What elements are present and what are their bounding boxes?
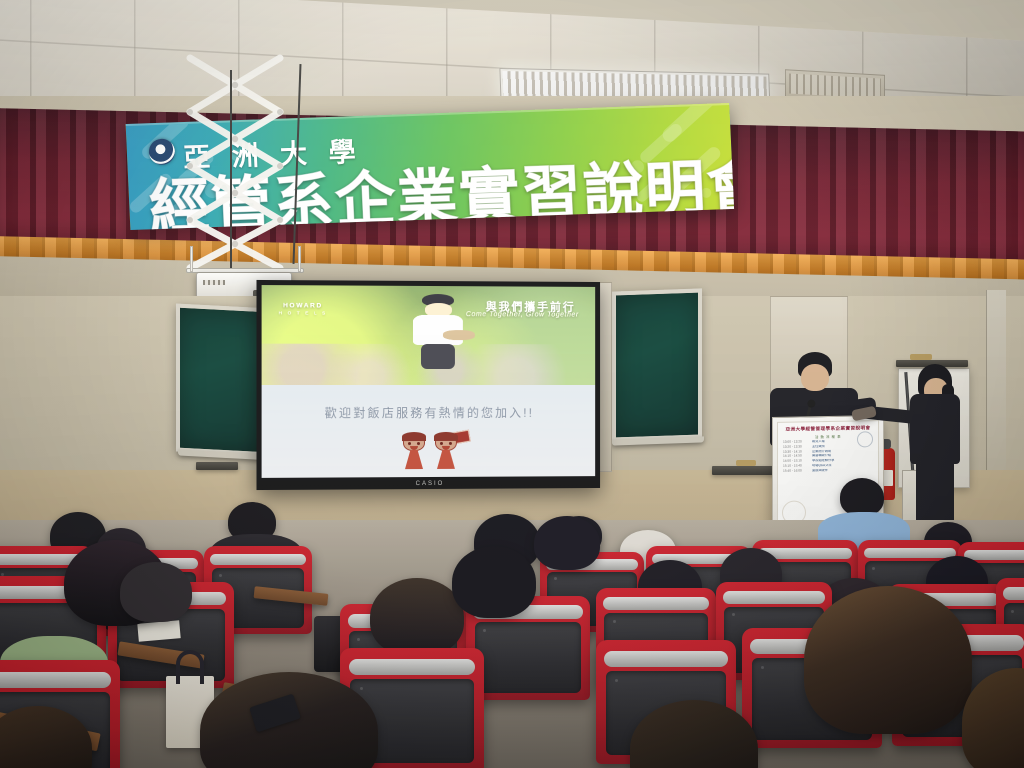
slide-mascots [262, 433, 596, 475]
poster-row-time: 13:20 - 13:30 [783, 445, 809, 449]
audience-head [370, 578, 464, 656]
audience-head [840, 478, 884, 516]
slide-photo-chef [410, 294, 467, 370]
poster-row-event: 學長姐經驗分享 [812, 458, 873, 463]
mascot-boy-icon [433, 433, 459, 469]
audience-head [120, 562, 192, 622]
table-item [736, 460, 756, 466]
shelf-item [910, 354, 932, 360]
scissor-lift-arms [176, 54, 298, 280]
slide-photo-garden: HOWARD H O T E L S 與我們攜手前行 Come Together… [262, 285, 596, 385]
wall-pillar-right [598, 282, 612, 472]
projector-mount-rod [298, 246, 301, 272]
poster-row-event: 面談與收件 [812, 468, 873, 473]
mascot-girl-icon [401, 433, 427, 469]
slide-headline-english: Come Together, Grow Together [466, 311, 579, 318]
scissor-lift-projector-mount [176, 54, 298, 280]
foreground-head [804, 586, 972, 734]
poster-row: 15:40 - 16:00面談與收件 [783, 468, 873, 473]
poster-title: 亞洲大學經營管理學系企業實習說明會 [783, 425, 873, 433]
slide-caption: 歡迎對飯店服務有熱情的您加入!! [262, 403, 596, 421]
chalkboard-right [612, 288, 702, 441]
poster-row-event: 實習職缺介紹 [812, 454, 873, 459]
side-table-left [196, 462, 238, 470]
poster-row-event: 現場Q&A交流 [812, 463, 873, 468]
staff-standing [900, 364, 970, 528]
howard-logo-text: HOWARD [283, 302, 323, 309]
screen-brand-label: CASIO [257, 480, 601, 488]
printed-handout [137, 620, 180, 642]
poster-row-event: 企業簡介說明 [812, 449, 873, 454]
projector-mount-rod [190, 246, 193, 272]
staff-legs [916, 460, 954, 528]
speaker-head [801, 364, 829, 391]
audience-head [534, 516, 600, 570]
wall-recess [986, 290, 1006, 470]
auditorium-photo: 亞 洲 大 學 經管系企業實習說明會 [0, 0, 1024, 768]
poster-row-time: 15:40 - 16:00 [783, 469, 809, 473]
audience-head [452, 546, 536, 618]
presentation-slide: HOWARD H O T E L S 與我們攜手前行 Come Together… [262, 285, 596, 478]
slide-lower-body: 歡迎對飯店服務有熱情的您加入!! [262, 385, 596, 478]
tote-handle [176, 650, 204, 684]
projector-cable [230, 70, 232, 268]
projection-screen: HOWARD H O T E L S 與我們攜手前行 Come Together… [257, 280, 601, 490]
howard-hotels-logo: HOWARD H O T E L S [279, 301, 328, 317]
staff-torso [910, 394, 960, 464]
howard-logo-sub: H O T E L S [279, 311, 328, 318]
